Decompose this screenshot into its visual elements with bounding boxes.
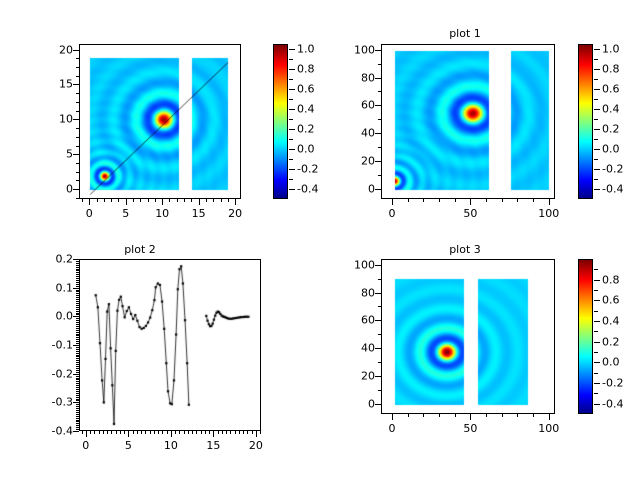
- y-tick-label: 60: [339, 99, 375, 112]
- colorbar-minor-tick: [594, 99, 598, 100]
- axis-tick: [375, 50, 381, 51]
- axis-tick: [243, 431, 244, 434]
- axis-tick: [378, 334, 381, 335]
- axis-tick: [76, 146, 79, 147]
- axis-tick: [169, 199, 170, 202]
- axis-tick: [76, 326, 79, 327]
- colorbar-tick: [289, 129, 295, 130]
- axis-tick: [76, 351, 79, 352]
- colorbar-minor-tick: [594, 119, 598, 120]
- colorbar-minor-tick: [594, 331, 598, 332]
- axis-tick: [76, 322, 79, 323]
- lineplot-bottom-left: [80, 260, 261, 431]
- axis-tick: [76, 314, 79, 315]
- axis-tick: [90, 431, 91, 434]
- axis-tick: [221, 199, 222, 202]
- x-tick-label: 10: [155, 207, 169, 220]
- axis-tick: [260, 431, 261, 434]
- colorbar-minor-tick: [594, 59, 598, 60]
- axis-tick: [76, 416, 79, 417]
- colorbar-tick: [594, 69, 600, 70]
- axis-tick: [205, 431, 206, 434]
- colorbar-top-right: [578, 44, 593, 199]
- colorbar-top-left: [273, 44, 288, 199]
- axis-tick: [76, 370, 79, 371]
- colorbar-tick: [594, 189, 600, 190]
- axis-tick: [133, 431, 134, 434]
- axis-tick: [76, 163, 79, 164]
- colorbar-gradient-bottom-right: [579, 260, 593, 414]
- figure-canvas: 05101520051015201.00.80.60.40.20.0-0.2-0…: [0, 0, 640, 480]
- axis-tick: [378, 91, 381, 92]
- axis-tick: [76, 303, 79, 304]
- axis-tick: [73, 402, 79, 403]
- axis-tick: [486, 414, 487, 417]
- colorbar-tick-label: 0.6: [297, 83, 315, 96]
- axis-tick: [73, 154, 79, 155]
- colorbar-tick: [594, 300, 600, 301]
- axis-tick: [76, 137, 79, 138]
- axis-tick: [375, 404, 381, 405]
- axis-tick: [188, 431, 189, 434]
- axis-tick: [375, 105, 381, 106]
- axis-tick: [201, 431, 202, 434]
- axis-tick: [150, 431, 151, 434]
- colorbar-tick: [594, 89, 600, 90]
- axis-tick: [375, 293, 381, 294]
- axis-tick: [133, 199, 134, 202]
- axis-tick: [76, 423, 79, 424]
- axis-tick: [76, 339, 79, 340]
- colorbar-minor-tick: [594, 373, 598, 374]
- axis-tick: [76, 299, 79, 300]
- axis-tick: [76, 102, 79, 103]
- axis-tick: [378, 390, 381, 391]
- colorbar-tick-label: -0.2: [602, 377, 623, 390]
- axis-tick: [73, 374, 79, 375]
- axis-tick: [103, 431, 104, 434]
- panel-bottom-right-title: plot 3: [380, 243, 550, 256]
- axis-tick: [76, 381, 79, 382]
- axis-tick: [375, 133, 381, 134]
- y-tick-label: 0: [339, 183, 375, 196]
- colorbar-tick-label: 0.8: [602, 273, 620, 286]
- axes-bottom-right: [381, 259, 555, 414]
- axis-tick: [76, 309, 79, 310]
- colorbar-minor-tick: [594, 159, 598, 160]
- x-tick-label: 5: [125, 439, 132, 452]
- axis-tick: [155, 199, 156, 202]
- colorbar-tick: [594, 109, 600, 110]
- axis-tick: [76, 270, 79, 271]
- x-tick-label: 0: [86, 207, 93, 220]
- axis-tick: [162, 199, 163, 205]
- axis-tick: [76, 269, 79, 270]
- axis-tick: [76, 128, 79, 129]
- axis-tick: [76, 334, 79, 335]
- colorbar-tick-label: 0.0: [297, 143, 315, 156]
- y-tick-label: 15: [37, 78, 73, 91]
- axis-tick: [76, 391, 79, 392]
- colorbar-tick-label: 0.0: [602, 356, 620, 369]
- colorbar-tick-label: 0.0: [602, 143, 620, 156]
- axis-tick: [73, 288, 79, 289]
- axis-tick: [408, 414, 409, 417]
- axis-tick: [517, 414, 518, 417]
- axis-tick: [76, 410, 79, 411]
- axis-tick: [76, 111, 79, 112]
- axis-tick: [76, 387, 79, 388]
- axis-tick: [73, 50, 79, 51]
- x-tick-label: 50: [463, 422, 477, 435]
- colorbar-tick: [594, 383, 600, 384]
- x-tick-label: 100: [538, 422, 559, 435]
- colorbar-bottom-right: [578, 259, 593, 414]
- y-tick-label: 20: [339, 155, 375, 168]
- axis-tick: [76, 284, 79, 285]
- colorbar-tick-label: 0.6: [602, 294, 620, 307]
- axis-tick: [533, 199, 534, 202]
- axis-tick: [76, 286, 79, 287]
- y-tick-label: 80: [339, 286, 375, 299]
- axis-tick: [76, 320, 79, 321]
- axis-tick: [76, 324, 79, 325]
- axis-tick: [517, 199, 518, 202]
- axis-tick: [439, 414, 440, 417]
- axis-tick: [76, 400, 79, 401]
- axis-tick: [76, 406, 79, 407]
- colorbar-tick: [594, 404, 600, 405]
- colorbar-tick: [289, 189, 295, 190]
- panel-top-left: 05101520051015201.00.80.60.40.20.0-0.2-0…: [0, 0, 320, 240]
- axis-tick: [76, 408, 79, 409]
- axis-tick: [375, 320, 381, 321]
- colorbar-minor-tick: [289, 179, 293, 180]
- axis-tick: [73, 316, 79, 317]
- colorbar-tick: [289, 89, 295, 90]
- axis-tick: [76, 429, 79, 430]
- panel-bottom-right: plot 3 0501000204060801000.80.60.40.20.0…: [320, 240, 640, 480]
- axis-tick: [239, 431, 240, 434]
- axis-tick: [533, 414, 534, 417]
- colorbar-tick: [594, 342, 600, 343]
- colorbar-tick-label: -0.2: [297, 163, 318, 176]
- axis-tick: [191, 199, 192, 202]
- axis-tick: [76, 356, 79, 357]
- axis-tick: [76, 379, 79, 380]
- axis-tick: [76, 349, 79, 350]
- x-tick-label: 15: [192, 207, 206, 220]
- y-tick-label: 20: [339, 370, 375, 383]
- axis-tick: [76, 291, 79, 292]
- axis-tick: [162, 431, 163, 434]
- axis-tick: [76, 282, 79, 283]
- colorbar-gradient-top-right: [579, 45, 593, 199]
- x-tick-label: 5: [122, 207, 129, 220]
- x-tick-label: 20: [249, 439, 263, 452]
- axis-tick: [76, 418, 79, 419]
- axis-tick: [502, 199, 503, 202]
- colorbar-gradient-top-left: [274, 45, 288, 199]
- colorbar-minor-tick: [594, 269, 598, 270]
- y-tick-label: 0: [339, 398, 375, 411]
- axis-tick: [76, 293, 79, 294]
- axis-tick: [76, 425, 79, 426]
- axis-tick: [235, 431, 236, 434]
- colorbar-tick-label: -0.2: [602, 163, 623, 176]
- colorbar-tick: [594, 49, 600, 50]
- axis-tick: [213, 199, 214, 202]
- axis-tick: [226, 431, 227, 434]
- colorbar-tick-label: 1.0: [297, 43, 315, 56]
- axis-tick: [455, 414, 456, 417]
- axis-tick: [76, 341, 79, 342]
- axis-tick: [76, 311, 79, 312]
- axis-tick: [76, 180, 79, 181]
- axis-tick: [423, 414, 424, 417]
- axis-tick: [549, 199, 550, 205]
- colorbar-minor-tick: [594, 179, 598, 180]
- x-tick-label: 0: [388, 422, 395, 435]
- axis-tick: [137, 431, 138, 434]
- axis-tick: [76, 261, 79, 262]
- axis-tick: [76, 385, 79, 386]
- axis-tick: [76, 420, 79, 421]
- axis-tick: [378, 279, 381, 280]
- axis-tick: [76, 393, 79, 394]
- colorbar-tick: [289, 169, 295, 170]
- axis-tick: [218, 431, 219, 434]
- axis-tick: [141, 431, 142, 434]
- heatmap-top-left: [80, 45, 241, 199]
- colorbar-tick-label: 0.2: [602, 123, 620, 136]
- axis-tick: [76, 76, 79, 77]
- axis-tick: [378, 175, 381, 176]
- axis-tick: [76, 337, 79, 338]
- axis-tick: [124, 431, 125, 434]
- y-tick-label: 40: [339, 342, 375, 355]
- axis-tick: [177, 199, 178, 202]
- axis-tick: [392, 414, 393, 420]
- axis-tick: [375, 78, 381, 79]
- axis-tick: [486, 199, 487, 202]
- axis-tick: [120, 431, 121, 434]
- axis-tick: [76, 274, 79, 275]
- axis-tick: [455, 199, 456, 202]
- axis-tick: [145, 431, 146, 434]
- axis-tick: [76, 366, 79, 367]
- colorbar-tick-label: 1.0: [602, 43, 620, 56]
- axis-tick: [118, 199, 119, 202]
- colorbar-tick: [594, 280, 600, 281]
- colorbar-tick-label: -0.4: [602, 183, 623, 196]
- y-tick-label: -0.4: [37, 425, 73, 438]
- axis-tick: [378, 119, 381, 120]
- colorbar-tick-label: 0.2: [602, 335, 620, 348]
- y-tick-label: -0.2: [37, 367, 73, 380]
- y-tick-label: 5: [37, 148, 73, 161]
- colorbar-minor-tick: [594, 139, 598, 140]
- axis-tick: [206, 199, 207, 202]
- axis-tick: [76, 383, 79, 384]
- heatmap-bottom-right: [382, 260, 555, 414]
- axis-tick: [76, 347, 79, 348]
- axis-tick: [158, 431, 159, 434]
- axis-tick: [470, 414, 471, 420]
- axis-tick: [375, 189, 381, 190]
- axis-tick: [375, 161, 381, 162]
- axis-tick: [116, 431, 117, 434]
- x-tick-label: 0: [82, 439, 89, 452]
- axis-tick: [76, 307, 79, 308]
- axis-tick: [76, 404, 79, 405]
- axis-tick: [126, 199, 127, 205]
- axis-tick: [423, 199, 424, 202]
- axis-tick: [184, 199, 185, 202]
- colorbar-minor-tick: [289, 159, 293, 160]
- axis-tick: [252, 431, 253, 434]
- x-tick-label: 15: [206, 439, 220, 452]
- axis-tick: [375, 348, 381, 349]
- axis-tick: [76, 280, 79, 281]
- y-tick-label: 80: [339, 71, 375, 84]
- panel-bottom-left: plot 2 051015200.20.10.0-0.1-0.2-0.3-0.4: [0, 240, 320, 480]
- axis-tick: [107, 431, 108, 434]
- colorbar-minor-tick: [289, 119, 293, 120]
- axis-tick: [111, 199, 112, 202]
- axis-tick: [196, 431, 197, 434]
- axis-tick: [76, 332, 79, 333]
- axis-tick: [76, 290, 79, 291]
- panel-top-right: plot 1 0501000204060801001.00.80.60.40.2…: [320, 0, 640, 240]
- axis-tick: [76, 427, 79, 428]
- axis-tick: [73, 259, 79, 260]
- x-tick-label: 0: [388, 207, 395, 220]
- axis-tick: [439, 199, 440, 202]
- axis-tick: [76, 364, 79, 365]
- axis-tick: [228, 199, 229, 202]
- axis-tick: [375, 265, 381, 266]
- axis-tick: [73, 119, 79, 120]
- axis-tick: [76, 263, 79, 264]
- axis-tick: [76, 395, 79, 396]
- axis-tick: [209, 431, 210, 434]
- axis-tick: [378, 147, 381, 148]
- colorbar-tick-label: 0.8: [297, 63, 315, 76]
- axis-tick: [192, 431, 193, 434]
- axis-tick: [76, 368, 79, 369]
- axis-tick: [89, 199, 90, 205]
- axis-tick: [76, 272, 79, 273]
- axis-tick: [378, 64, 381, 65]
- colorbar-tick: [594, 169, 600, 170]
- axes-bottom-left: [79, 259, 261, 431]
- axis-tick: [76, 389, 79, 390]
- axis-tick: [76, 305, 79, 306]
- axis-tick: [213, 431, 214, 437]
- axis-tick: [76, 335, 79, 336]
- axis-tick: [76, 295, 79, 296]
- colorbar-minor-tick: [594, 79, 598, 80]
- axis-tick: [230, 431, 231, 434]
- colorbar-tick-label: -0.4: [602, 397, 623, 410]
- colorbar-tick: [594, 129, 600, 130]
- axis-tick: [222, 431, 223, 434]
- axis-tick: [235, 199, 236, 205]
- axis-tick: [76, 360, 79, 361]
- axis-tick: [76, 378, 79, 379]
- axis-tick: [99, 431, 100, 434]
- axis-tick: [76, 313, 79, 314]
- y-tick-label: -0.1: [37, 339, 73, 352]
- axis-tick: [408, 199, 409, 202]
- colorbar-tick-label: 0.4: [297, 103, 315, 116]
- colorbar-minor-tick: [289, 59, 293, 60]
- y-tick-label: 20: [37, 43, 73, 56]
- axis-tick: [179, 431, 180, 434]
- axis-tick: [76, 267, 79, 268]
- x-tick-label: 20: [228, 207, 242, 220]
- axis-tick: [76, 330, 79, 331]
- axis-tick: [76, 343, 79, 344]
- axis-tick: [76, 276, 79, 277]
- y-tick-label: 0.2: [37, 253, 73, 266]
- colorbar-tick: [289, 149, 295, 150]
- x-tick-label: 50: [463, 207, 477, 220]
- y-tick-label: 0.1: [37, 281, 73, 294]
- axis-tick: [76, 412, 79, 413]
- y-tick-label: 10: [37, 113, 73, 126]
- colorbar-minor-tick: [289, 79, 293, 80]
- axis-tick: [76, 376, 79, 377]
- axis-tick: [94, 431, 95, 434]
- axis-tick: [76, 265, 79, 266]
- axis-tick: [378, 362, 381, 363]
- axis-tick: [76, 399, 79, 400]
- panel-top-right-title: plot 1: [380, 27, 550, 40]
- axis-tick: [140, 199, 141, 202]
- axis-tick: [111, 431, 112, 434]
- colorbar-minor-tick: [594, 311, 598, 312]
- axis-tick: [154, 431, 155, 434]
- axis-tick: [76, 58, 79, 59]
- colorbar-tick-label: 0.4: [602, 315, 620, 328]
- colorbar-minor-tick: [594, 290, 598, 291]
- axis-tick: [104, 199, 105, 202]
- colorbar-tick: [594, 362, 600, 363]
- x-tick-label: 10: [164, 439, 178, 452]
- axis-tick: [76, 93, 79, 94]
- panel-bottom-left-title: plot 2: [45, 243, 235, 256]
- axis-tick: [82, 431, 83, 434]
- axis-tick: [128, 431, 129, 437]
- axis-tick: [76, 278, 79, 279]
- axis-tick: [97, 199, 98, 202]
- axis-tick: [76, 67, 79, 68]
- axis-tick: [73, 84, 79, 85]
- axis-tick: [199, 199, 200, 205]
- axis-tick: [378, 306, 381, 307]
- axis-tick: [175, 431, 176, 434]
- axes-top-left: [79, 44, 241, 199]
- colorbar-tick-label: -0.4: [297, 183, 318, 196]
- axis-tick: [76, 358, 79, 359]
- colorbar-minor-tick: [289, 99, 293, 100]
- axis-tick: [76, 297, 79, 298]
- y-tick-label: 0: [37, 183, 73, 196]
- axis-tick: [86, 431, 87, 437]
- axis-tick: [171, 431, 172, 437]
